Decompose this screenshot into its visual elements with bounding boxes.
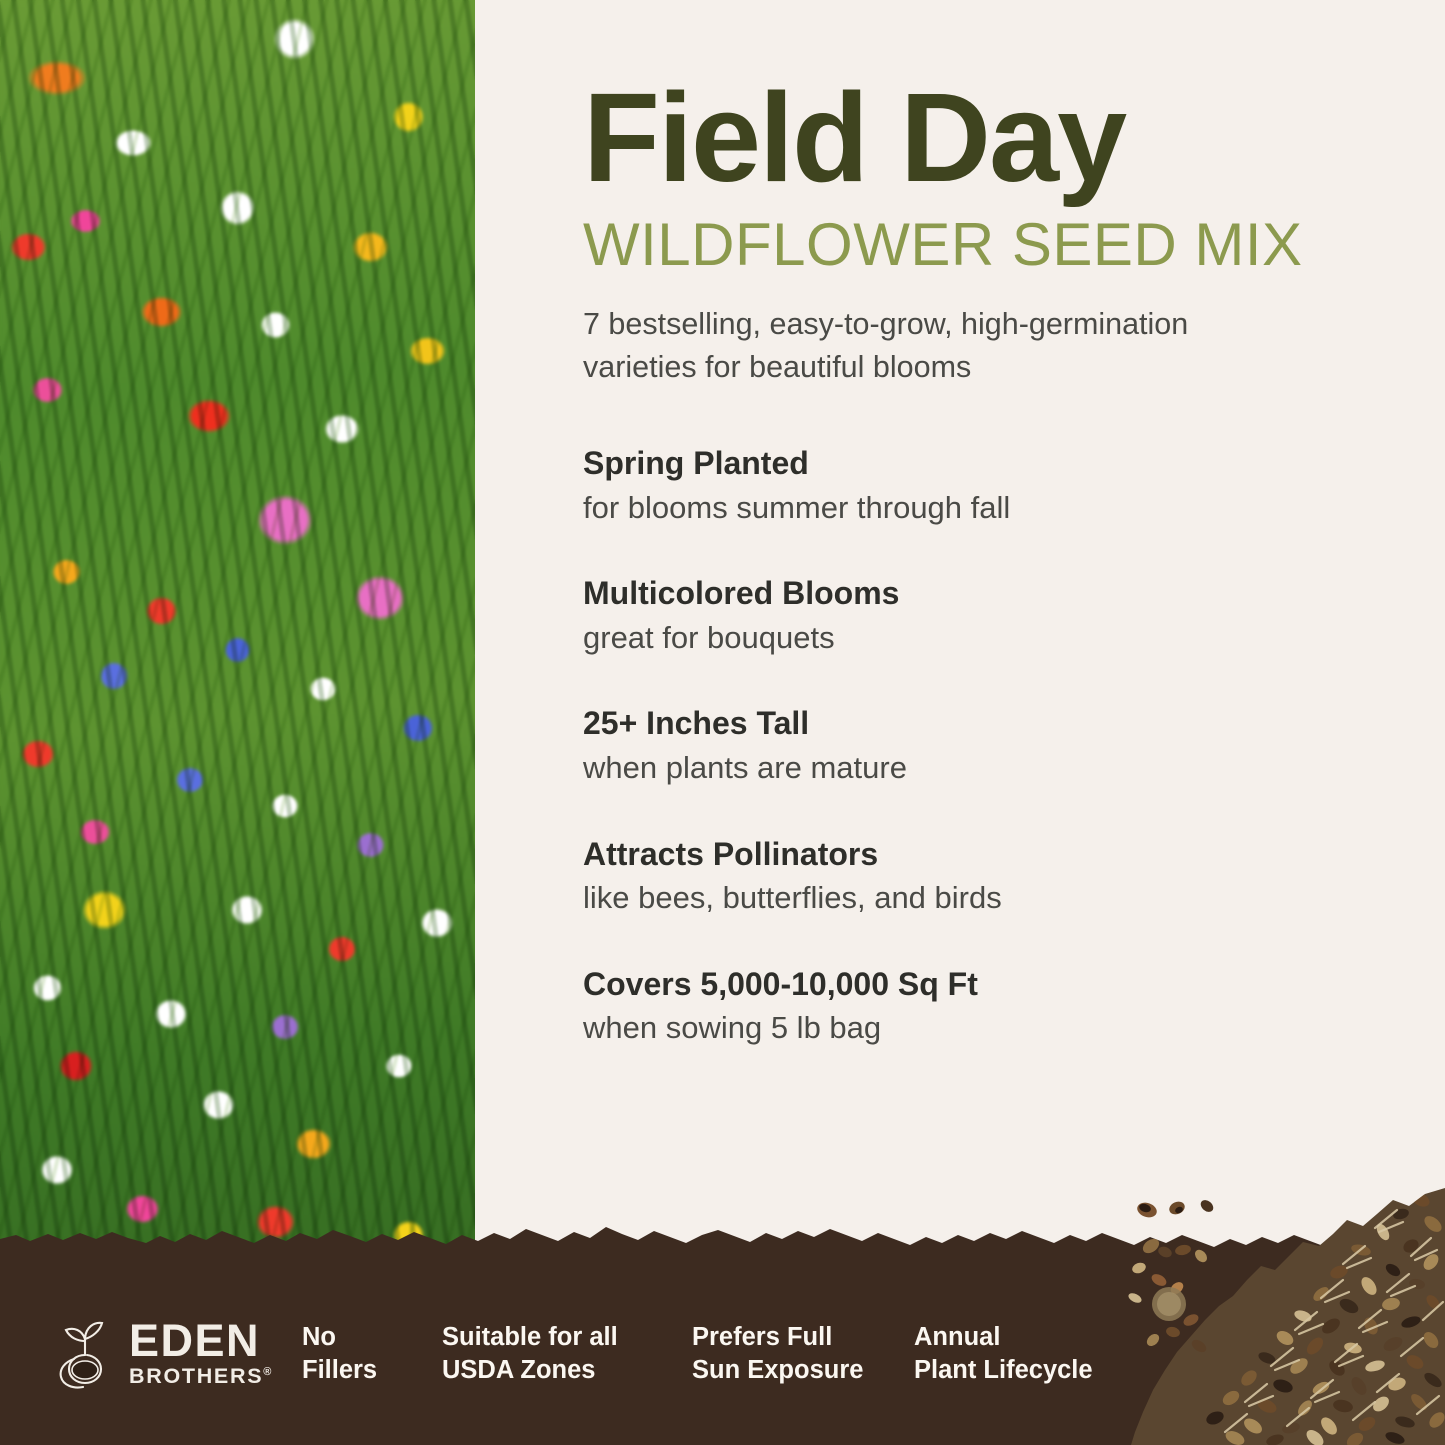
feature-item: Spring Planted for blooms summer through… — [583, 444, 1343, 527]
feature-title: Attracts Pollinators — [583, 835, 1343, 873]
claim-plant-lifecycle: Annual Plant Lifecycle — [914, 1321, 1134, 1386]
product-info-panel: Field Day WILDFLOWER SEED MIX 7 bestsell… — [583, 0, 1343, 1095]
sprout-logo-icon — [52, 1319, 118, 1389]
feature-title: Covers 5,000-10,000 Sq Ft — [583, 965, 1343, 1003]
logo-wordmark: EDEN BROTHERS® — [129, 1319, 273, 1389]
feature-subtitle: like bees, butterflies, and birds — [583, 878, 1343, 918]
product-description: 7 bestselling, easy-to-grow, high-germin… — [583, 303, 1295, 391]
logo-eden-text: EDEN — [129, 1319, 273, 1362]
feature-title: Multicolored Blooms — [583, 574, 1343, 612]
feature-item: Covers 5,000-10,000 Sq Ft when sowing 5 … — [583, 965, 1343, 1048]
product-subtitle: WILDFLOWER SEED MIX — [583, 213, 1343, 277]
footer-bar: EDEN BROTHERS® No Fillers Suitable for a… — [0, 1263, 1445, 1445]
feature-subtitle: when sowing 5 lb bag — [583, 1008, 1343, 1048]
footer-claims: No Fillers Suitable for all USDA Zones P… — [284, 1321, 1445, 1386]
feature-item: Attracts Pollinators like bees, butterfl… — [583, 835, 1343, 918]
feature-subtitle: for blooms summer through fall — [583, 488, 1343, 528]
feature-title: Spring Planted — [583, 444, 1343, 482]
feature-item: 25+ Inches Tall when plants are mature — [583, 704, 1343, 787]
feature-subtitle: when plants are mature — [583, 748, 1343, 788]
feature-item: Multicolored Blooms great for bouquets — [583, 574, 1343, 657]
product-marketing-card: Field Day WILDFLOWER SEED MIX 7 bestsell… — [0, 0, 1445, 1445]
claim-sun-exposure: Prefers Full Sun Exposure — [692, 1321, 914, 1386]
feature-title: 25+ Inches Tall — [583, 704, 1343, 742]
claim-usda-zones: Suitable for all USDA Zones — [442, 1321, 692, 1386]
eden-brothers-logo[interactable]: EDEN BROTHERS® — [52, 1319, 284, 1389]
wildflower-meadow-photo — [0, 0, 475, 1300]
torn-soil-edge — [0, 1217, 1445, 1263]
feature-subtitle: great for bouquets — [583, 618, 1343, 658]
trademark-symbol: ® — [263, 1366, 273, 1378]
feature-list: Spring Planted for blooms summer through… — [583, 444, 1343, 1047]
logo-brothers-text: BROTHERS® — [129, 1365, 273, 1389]
meadow-photo-blur — [0, 0, 475, 1300]
claim-no-fillers: No Fillers — [302, 1321, 442, 1386]
product-title: Field Day — [583, 78, 1343, 199]
